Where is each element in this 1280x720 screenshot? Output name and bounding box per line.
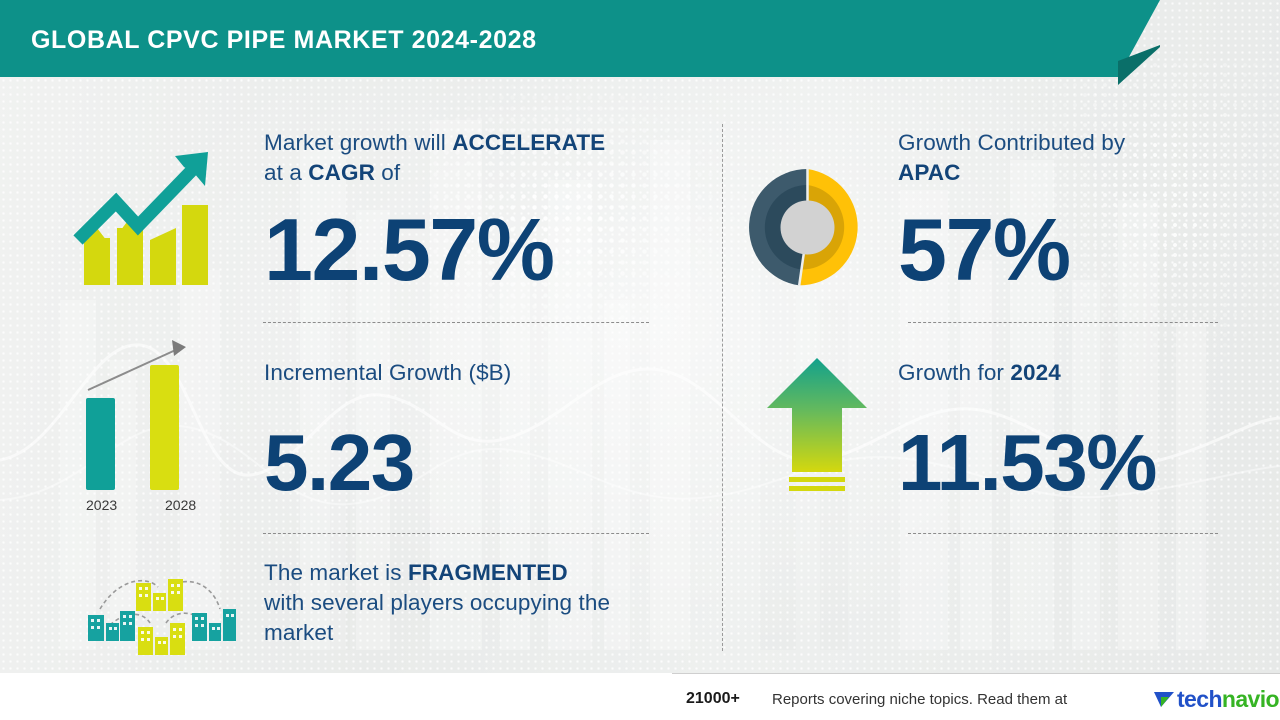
apac-label-part1: Growth Contributed by — [898, 130, 1125, 155]
divider-right-2 — [908, 533, 1218, 534]
footer-divider — [672, 673, 1280, 674]
apac-label: Growth Contributed by APAC — [898, 128, 1228, 188]
technavio-logo[interactable]: technavio™ — [1152, 686, 1280, 712]
two-bar-comparison-icon — [80, 330, 220, 495]
logo-text-tech: tech — [1177, 686, 1222, 713]
cagr-label-part1: Market growth will — [264, 130, 452, 155]
infographic-canvas: GLOBAL CPVC PIPE MARKET 2024-2028 — [0, 0, 1280, 720]
incremental-growth-value: 5.23 — [264, 423, 414, 503]
page-title: GLOBAL CPVC PIPE MARKET 2024-2028 — [31, 26, 537, 55]
growth-arrow-bars-icon — [72, 140, 222, 290]
cagr-label-part2: at a — [264, 160, 308, 185]
fragmentation-line3: market — [264, 620, 333, 645]
connected-cities-icon — [78, 565, 238, 670]
cagr-label-cagr: CAGR — [308, 160, 375, 185]
growth-2024-value: 11.53% — [898, 423, 1156, 503]
cagr-label-accelerate: ACCELERATE — [452, 130, 605, 155]
incremental-growth-label: Incremental Growth ($B) — [264, 358, 664, 388]
fragmentation-label: The market is FRAGMENTED with several pl… — [264, 558, 684, 648]
growth-2024-strong: 2024 — [1010, 360, 1060, 385]
up-arrow-gradient-icon — [762, 355, 872, 505]
apac-value: 57% — [898, 206, 1070, 294]
footer-bar — [0, 673, 1280, 720]
fragmentation-strong: FRAGMENTED — [408, 560, 568, 585]
fragmentation-part1: The market is — [264, 560, 408, 585]
cagr-value: 12.57% — [264, 206, 553, 294]
divider-left-1 — [263, 322, 649, 323]
growth-2024-part1: Growth for — [898, 360, 1010, 385]
cagr-label-part3: of — [375, 160, 400, 185]
logo-text-navio: navio — [1222, 686, 1279, 713]
fragmentation-line2: with several players occupying the — [264, 590, 610, 615]
divider-left-2 — [263, 533, 649, 534]
divider-right-1 — [908, 322, 1218, 323]
technavio-mark-icon — [1152, 688, 1177, 710]
apac-label-strong: APAC — [898, 160, 960, 185]
footer-tagline: Reports covering niche topics. Read them… — [772, 691, 1067, 708]
bar-label-2023: 2023 — [86, 497, 117, 513]
donut-chart-icon — [745, 165, 870, 295]
bar-label-2028: 2028 — [165, 497, 196, 513]
column-divider — [722, 124, 723, 651]
cagr-label: Market growth will ACCELERATE at a CAGR … — [264, 128, 664, 188]
growth-2024-label: Growth for 2024 — [898, 358, 1228, 388]
footer-report-count: 21000+ — [686, 690, 740, 708]
